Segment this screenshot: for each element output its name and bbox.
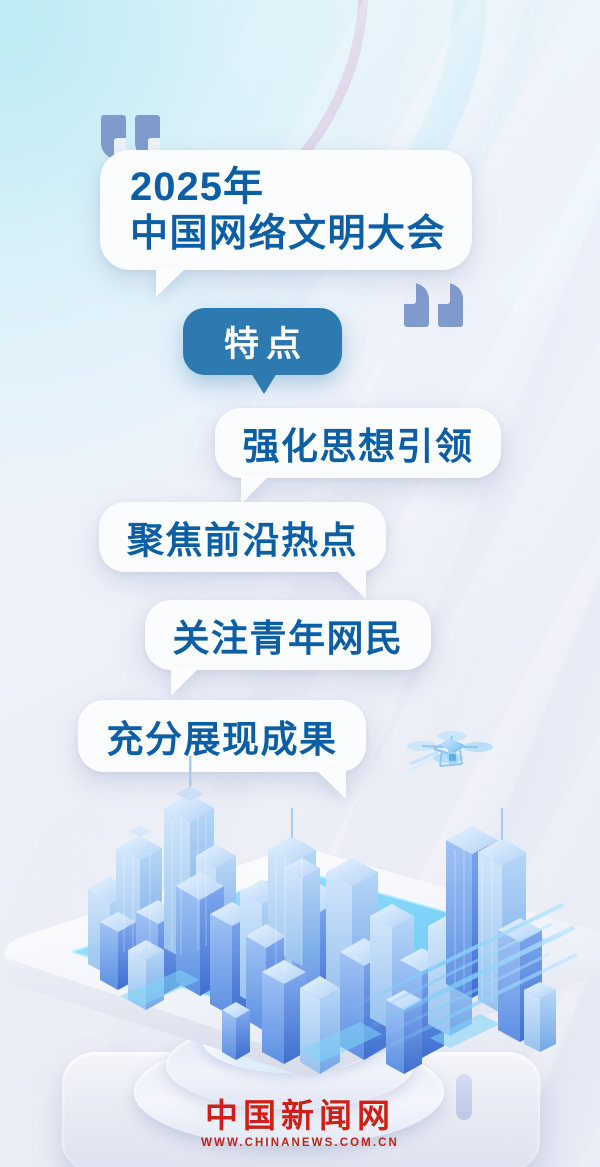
point-bubble-1: 强化思想引领 [215, 408, 501, 478]
point-label: 聚焦前沿热点 [127, 510, 358, 564]
feature-badge: 特点 [183, 308, 342, 375]
chinanews-logo: 中国新闻网 WWW.CHINANEWS.COM.CN [0, 1099, 600, 1149]
bubble-tail [241, 476, 269, 504]
point-bubble-3: 关注青年网民 [145, 600, 431, 670]
poster-canvas: 2025年 中国网络文明大会 特点 强化思想引领 聚焦前沿热点 关注青年网民 充… [0, 0, 600, 1167]
bubble-tail [251, 373, 277, 394]
bubble-tail [156, 268, 186, 297]
point-label: 关注青年网民 [173, 608, 404, 662]
close-quote-icon [404, 283, 463, 327]
feature-badge-label: 特点 [224, 316, 308, 367]
logo-brand-cn: 中国新闻网 [0, 1099, 600, 1132]
bubble-tail [336, 570, 366, 599]
quadcopter-drone-icon [400, 718, 500, 788]
title-line-2: 中国网络文明大会 [130, 214, 446, 254]
title-line-1: 2025年 [130, 166, 264, 208]
bubble-tail [171, 668, 199, 696]
title-bubble: 2025年 中国网络文明大会 [100, 150, 472, 270]
point-label: 强化思想引领 [243, 416, 474, 470]
point-bubble-2: 聚焦前沿热点 [99, 502, 386, 572]
logo-url: WWW.CHINANEWS.COM.CN [0, 1137, 600, 1149]
